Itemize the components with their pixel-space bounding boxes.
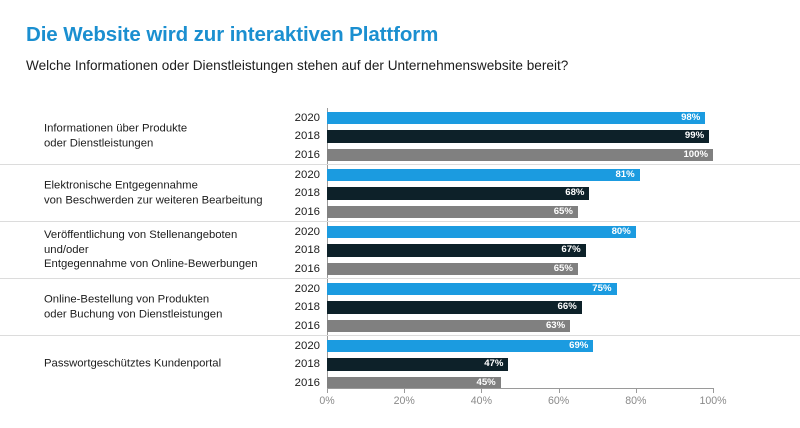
x-axis-tick [327,388,328,393]
bar-row: 202069% [0,337,800,356]
year-label: 2020 [250,337,320,356]
bar-row-group: 202080%201867%201665% [0,222,800,278]
bar-value-label: 98% [681,113,700,123]
bar-2020[interactable]: 75% [327,283,617,296]
page-title: Die Website wird zur interaktiven Plattf… [26,22,776,48]
bar-chart: Informationen über Produkteoder Dienstle… [0,108,800,408]
bar-track: 80% [327,226,713,239]
bar-2016[interactable]: 63% [327,320,570,333]
x-axis-tick-label: 60% [529,395,589,407]
bar-value-label: 45% [476,378,495,388]
bar-2018[interactable]: 47% [327,358,508,371]
x-axis-tick-label: 40% [451,395,511,407]
bar-track: 69% [327,340,713,353]
bar-track: 63% [327,320,713,333]
bar-row: 202081% [0,166,800,185]
bar-2020[interactable]: 80% [327,226,636,239]
year-label: 2020 [250,223,320,242]
bar-value-label: 47% [484,359,503,369]
chart-header: Die Website wird zur interaktiven Plattf… [26,22,776,74]
bar-2016[interactable]: 65% [327,206,578,219]
bar-row: 201868% [0,184,800,203]
chart-group: Veröffentlichung von Stellenangeboten un… [0,221,800,278]
bar-value-label: 81% [615,170,634,180]
x-axis: 0%20%40%60%80%100% [0,388,800,428]
bar-track: 100% [327,149,713,162]
bar-row: 202080% [0,223,800,242]
chart-group: Informationen über Produkteoder Dienstle… [0,108,800,164]
bar-value-label: 75% [592,284,611,294]
x-axis-tick [713,388,714,393]
x-axis-tick [636,388,637,393]
x-axis-line [327,388,714,389]
x-axis-tick-label: 0% [297,395,357,407]
bar-track: 47% [327,358,713,371]
year-label: 2020 [250,109,320,128]
bar-value-label: 100% [683,150,708,160]
bar-value-label: 66% [558,302,577,312]
x-axis-tick-label: 100% [683,395,743,407]
bar-row-group: 202069%201847%201645% [0,336,800,392]
bar-row: 201847% [0,355,800,374]
x-axis-tick-label: 20% [374,395,434,407]
year-label: 2018 [250,355,320,374]
chart-group: Elektronische Entgegennahmevon Beschwerd… [0,164,800,221]
bar-2018[interactable]: 66% [327,301,582,314]
bar-value-label: 65% [554,207,573,217]
year-label: 2016 [250,146,320,165]
year-label: 2020 [250,166,320,185]
bar-row: 201663% [0,317,800,336]
year-label: 2020 [250,280,320,299]
bar-2018[interactable]: 99% [327,130,709,143]
bar-2016[interactable]: 65% [327,263,578,276]
year-label: 2018 [250,298,320,317]
chart-subtitle: Welche Informationen oder Dienstleistung… [26,57,776,75]
bar-track: 98% [327,112,713,125]
x-axis-tick [559,388,560,393]
bar-row: 201665% [0,260,800,279]
year-label: 2016 [250,260,320,279]
bar-track: 75% [327,283,713,296]
year-label: 2018 [250,127,320,146]
bar-track: 81% [327,169,713,182]
bar-row: 201866% [0,298,800,317]
bar-row: 201899% [0,127,800,146]
bar-2020[interactable]: 81% [327,169,640,182]
bar-row-group: 202098%201899%2016100% [0,108,800,164]
bar-track: 65% [327,206,713,219]
bar-2020[interactable]: 69% [327,340,593,353]
chart-group: Online-Bestellung von Produktenoder Buch… [0,278,800,335]
x-axis-tick-label: 80% [606,395,666,407]
bar-track: 99% [327,130,713,143]
bar-value-label: 99% [685,131,704,141]
bar-row: 202098% [0,109,800,128]
x-axis-tick [404,388,405,393]
chart-group: Passwortgeschütztes Kundenportal202069%2… [0,335,800,392]
bar-2020[interactable]: 98% [327,112,705,125]
bar-value-label: 63% [546,321,565,331]
bar-2018[interactable]: 68% [327,187,589,200]
bar-row: 202075% [0,280,800,299]
bar-value-label: 68% [565,188,584,198]
bar-track: 65% [327,263,713,276]
bar-value-label: 65% [554,264,573,274]
bar-row-group: 202075%201866%201663% [0,279,800,335]
year-label: 2018 [250,241,320,260]
bar-row: 201665% [0,203,800,222]
x-axis-tick [481,388,482,393]
bar-value-label: 80% [612,227,631,237]
year-label: 2018 [250,184,320,203]
chart-group-list: Informationen über Produkteoder Dienstle… [0,108,800,392]
bar-value-label: 67% [561,245,580,255]
bar-track: 67% [327,244,713,257]
bar-track: 68% [327,187,713,200]
year-label: 2016 [250,317,320,336]
bar-2018[interactable]: 67% [327,244,586,257]
bar-row: 2016100% [0,146,800,165]
bar-2016[interactable]: 100% [327,149,713,162]
bar-track: 66% [327,301,713,314]
bar-row: 201867% [0,241,800,260]
year-label: 2016 [250,203,320,222]
bar-value-label: 69% [569,341,588,351]
bar-row-group: 202081%201868%201665% [0,165,800,221]
